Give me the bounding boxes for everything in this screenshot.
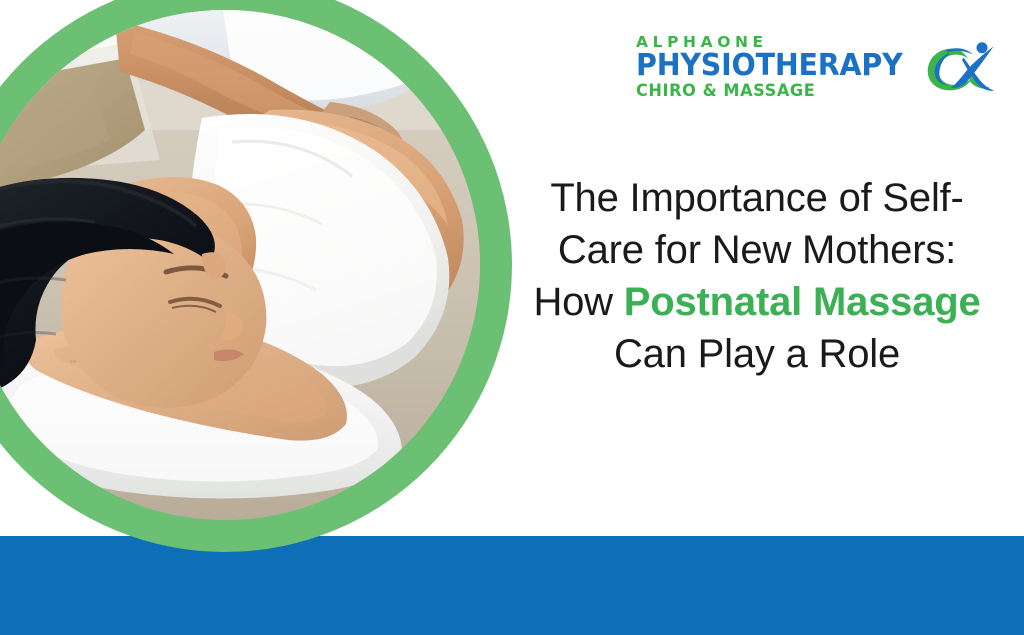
logo-brand-main: PHYSIOTHERAPY <box>636 50 903 82</box>
woman-receiving-back-massage-photo <box>0 10 480 520</box>
bottom-blue-band <box>0 536 1024 635</box>
page-title: The Importance of Self- Care for New Mot… <box>512 172 1002 380</box>
logo-wordmark: ALPHAONE PHYSIOTHERAPY CHIRO & MASSAGE <box>636 34 917 101</box>
headline-line-1: The Importance of Self- <box>550 176 963 220</box>
alphaone-alpha-figure-mark <box>925 27 996 107</box>
headline-line-4: Can Play a Role <box>614 332 900 376</box>
logo-brand-sub: CHIRO & MASSAGE <box>636 82 903 101</box>
alphaone-logo[interactable]: ALPHAONE PHYSIOTHERAPY CHIRO & MASSAGE <box>636 24 996 110</box>
headline-line-3-prefix: How <box>533 280 623 324</box>
massage-photo-circle <box>0 10 480 520</box>
banner-canvas: ALPHAONE PHYSIOTHERAPY CHIRO & MASSAGE T… <box>0 0 1024 635</box>
headline-line-2: Care for New Mothers: <box>558 228 956 272</box>
headline-emphasis: Postnatal Massage <box>624 280 981 324</box>
